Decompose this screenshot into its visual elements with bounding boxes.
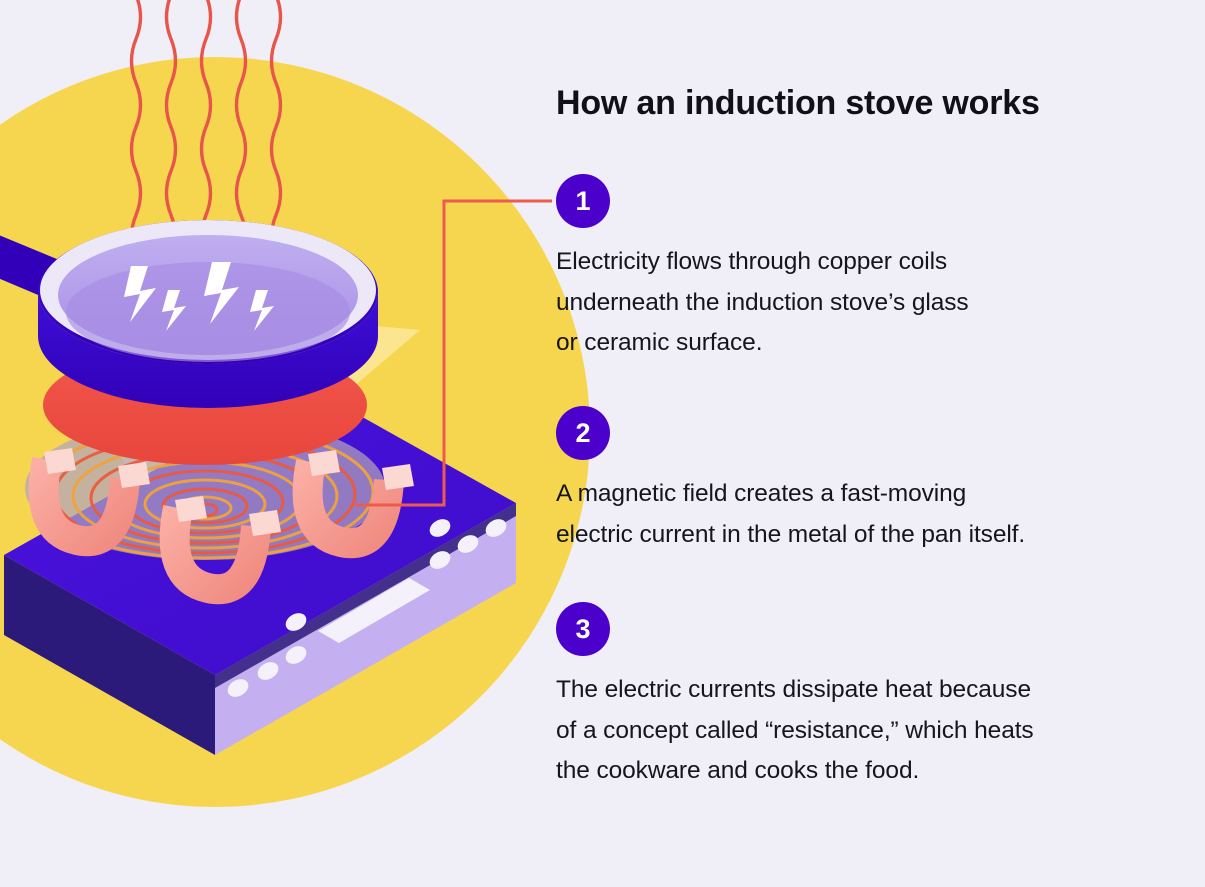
step-1-text: Electricity flows through copper coils u… <box>556 242 1156 364</box>
step-2: 2 A magnetic field creates a fast-moving… <box>556 406 1156 555</box>
step-2-text: A magnetic field creates a fast-moving e… <box>556 474 1156 555</box>
frying-pan <box>38 220 378 408</box>
step-2-badge: 2 <box>556 406 610 460</box>
induction-stove-illustration <box>0 0 620 887</box>
step-3-badge: 3 <box>556 602 610 656</box>
infographic-root: How an induction stove works 1 Electrici… <box>0 0 1205 887</box>
step-3-text: The electric currents dissipate heat bec… <box>556 670 1156 792</box>
page-title: How an induction stove works <box>556 84 1040 123</box>
step-1: 1 Electricity flows through copper coils… <box>556 174 1156 364</box>
text-panel: How an induction stove works 1 Electrici… <box>556 0 1176 887</box>
step-3: 3 The electric currents dissipate heat b… <box>556 602 1156 792</box>
step-1-badge: 1 <box>556 174 610 228</box>
